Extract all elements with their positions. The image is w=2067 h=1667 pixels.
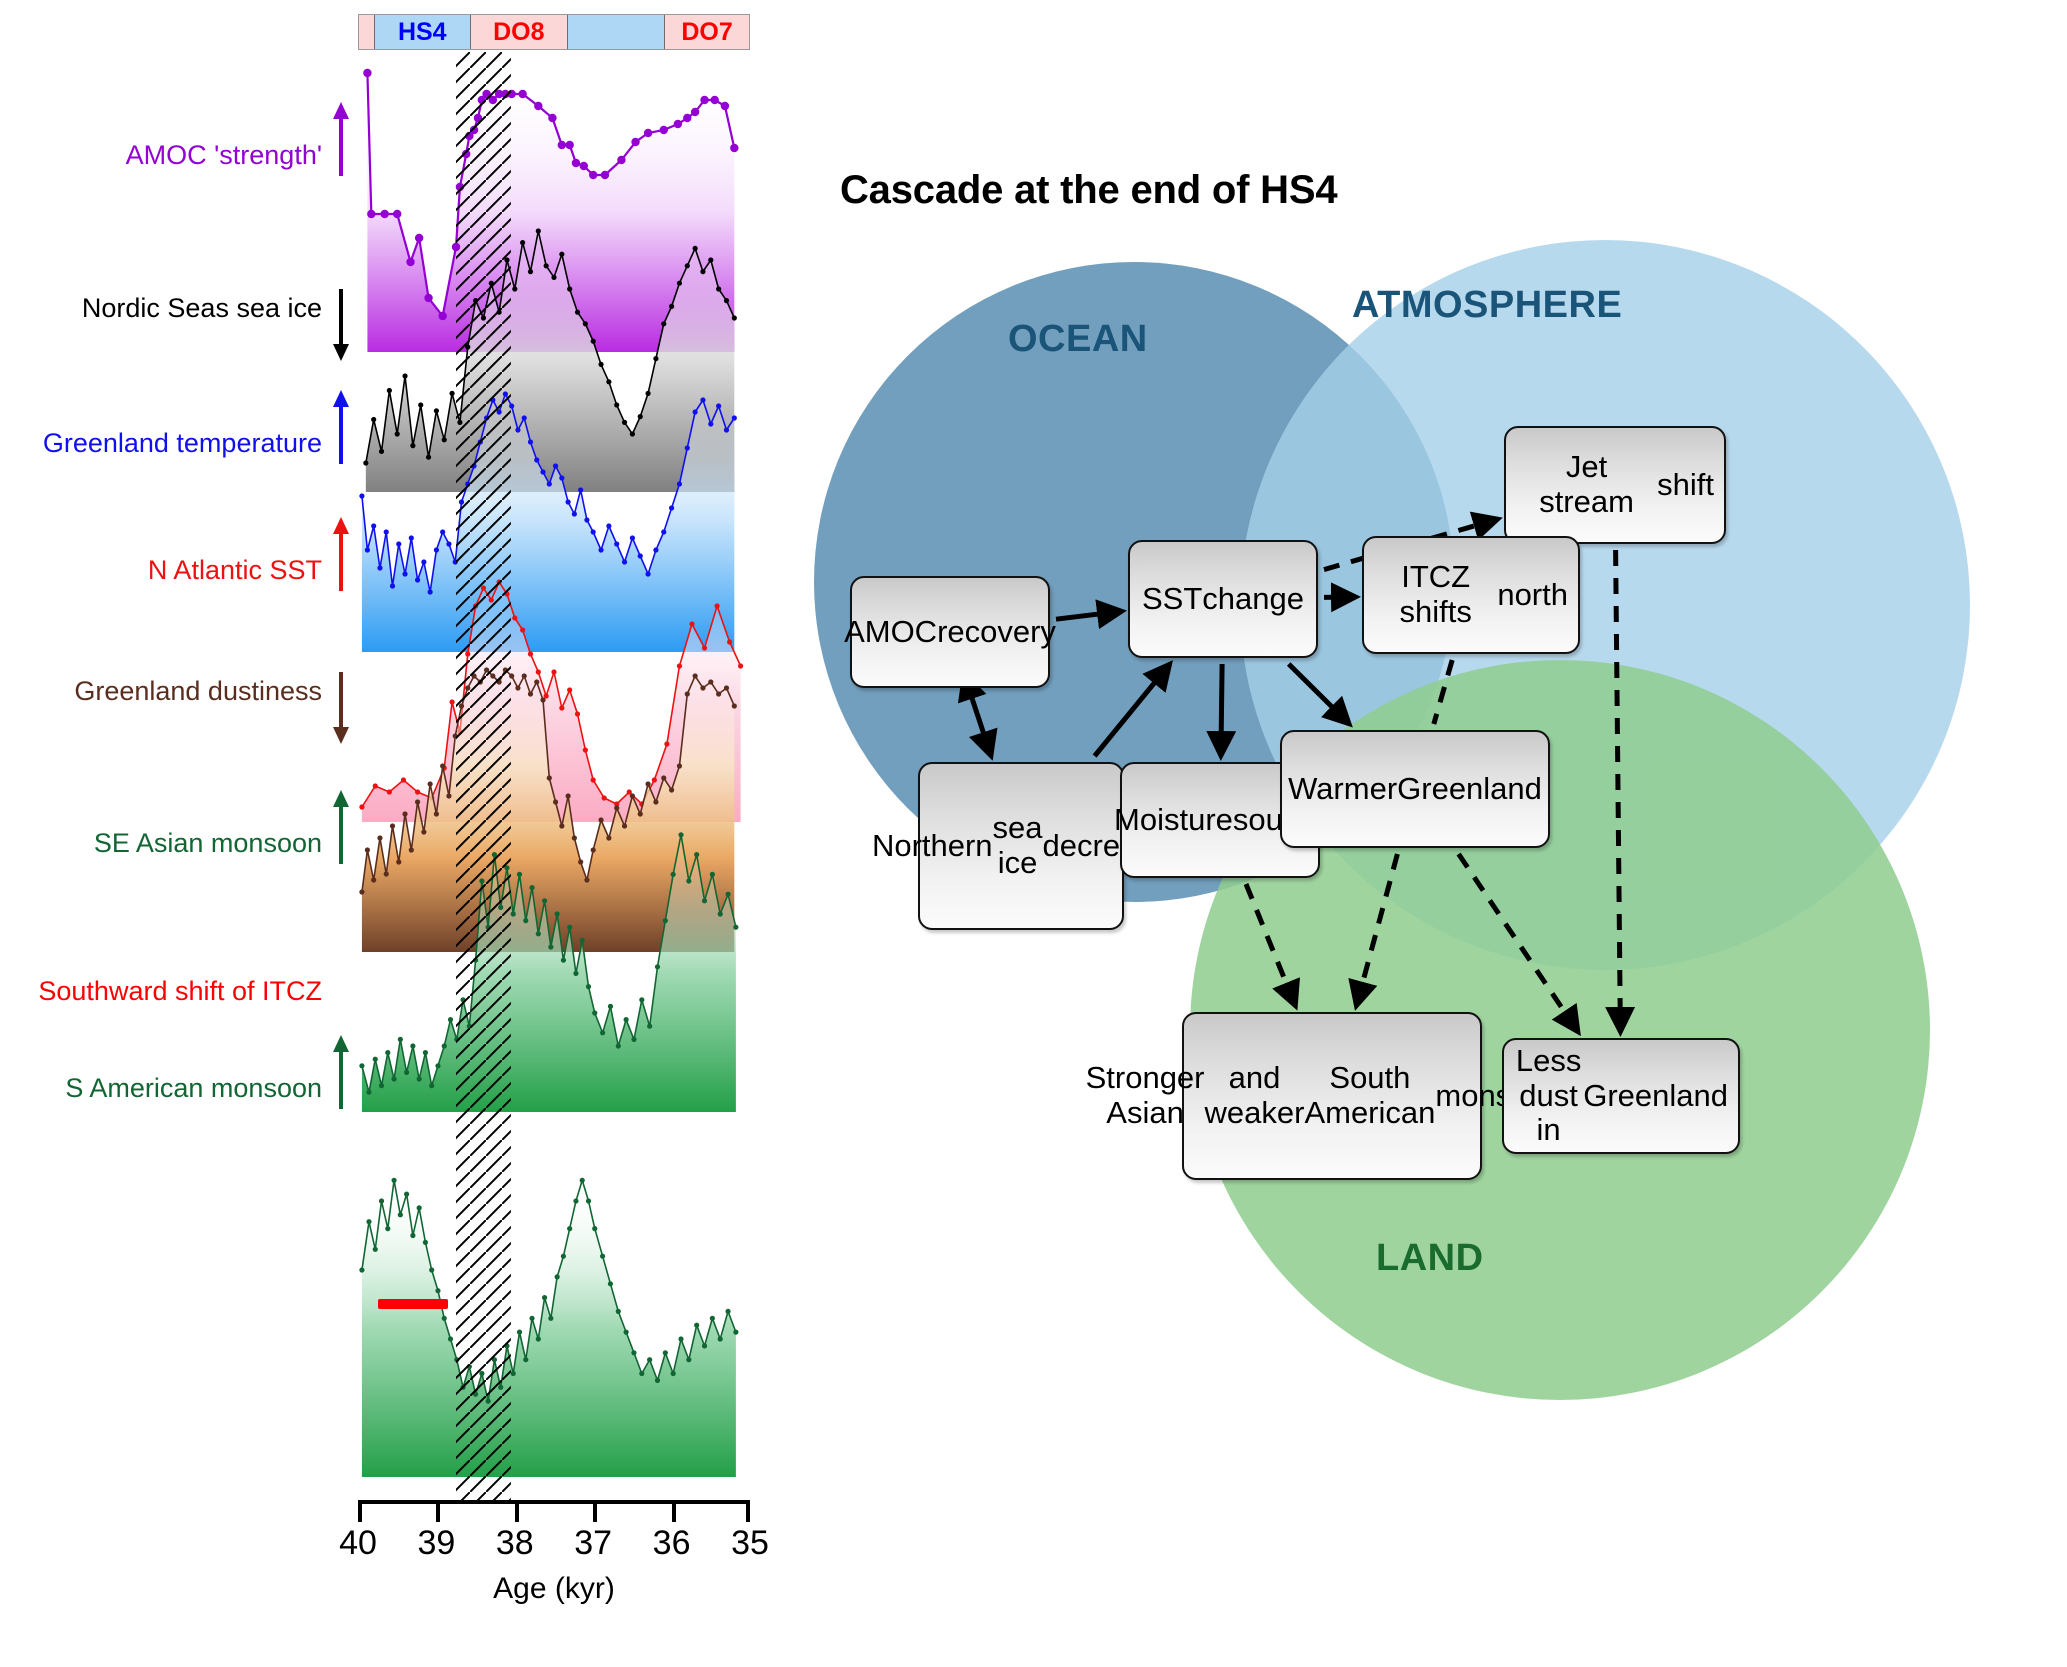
axis-tick	[672, 1500, 676, 1522]
node-line: Warmer	[1288, 772, 1397, 807]
axis-tick-label: 38	[496, 1524, 534, 1563]
axis-line	[358, 1500, 750, 1504]
series-label-1: Nordic Seas sea ice	[2, 295, 322, 322]
event-interval-bar: HS4DO8DO7	[358, 14, 750, 50]
series-label-0: AMOC 'strength'	[2, 142, 322, 169]
venn-label-land: LAND	[1376, 1237, 1484, 1280]
series-canvas	[358, 52, 750, 1500]
series-label-7: S American monsoon	[2, 1075, 322, 1102]
series-s-american-monsoon	[359, 1178, 738, 1477]
cascade-diagram: Cascade at the end of HS4 OCEAN ATMOSPHE…	[830, 0, 2067, 1667]
series-trend-arrow-up	[330, 517, 352, 591]
axis-tick	[515, 1500, 519, 1522]
node-line: north	[1497, 578, 1568, 613]
node-line: Moisture	[1114, 803, 1233, 838]
series-label-2: Greenland temperature	[2, 430, 322, 457]
node-sst-change[interactable]: SSTchange	[1128, 540, 1318, 658]
series-label-6: Southward shift of ITCZ	[2, 978, 322, 1005]
axis-tick-label: 35	[731, 1524, 769, 1563]
node-line: change	[1202, 582, 1304, 617]
node-line: Jet stream	[1516, 450, 1657, 519]
node-line: Stronger Asian	[1086, 1061, 1205, 1130]
node-less-dust-in-greenland[interactable]: Less dust inGreenland	[1502, 1038, 1740, 1154]
node-monsoons[interactable]: Stronger Asianand weakerSouth Americanmo…	[1182, 1012, 1482, 1180]
axis-tick-label: 40	[339, 1524, 377, 1563]
axis-tick-label: 39	[417, 1524, 455, 1563]
node-line: shift	[1657, 468, 1714, 503]
node-line: and weaker	[1205, 1061, 1305, 1130]
series-trend-arrow-up	[330, 102, 352, 176]
series-trend-arrow-up	[330, 790, 352, 864]
node-line: AMOC	[844, 615, 937, 650]
node-amoc-recovery[interactable]: AMOCrecovery	[850, 576, 1050, 688]
series-trend-arrow-up	[330, 1035, 352, 1109]
node-line: Greenland	[1397, 772, 1542, 807]
node-warmer-greenland[interactable]: WarmerGreenland	[1280, 730, 1550, 848]
axis-tick	[593, 1500, 597, 1522]
node-line: sea ice	[993, 811, 1043, 880]
axis-tick-label: 36	[653, 1524, 691, 1563]
series-trend-arrow-up	[330, 390, 352, 464]
node-line: South American	[1304, 1061, 1435, 1130]
axis-tick	[746, 1500, 750, 1522]
event-segment-blank	[359, 15, 375, 49]
axis-tick-label: 37	[574, 1524, 612, 1563]
series-trend-arrow-down	[330, 670, 352, 744]
event-segment-hs4: HS4	[375, 15, 471, 49]
event-segment-blank	[568, 15, 665, 49]
event-segment-do8: DO8	[471, 15, 569, 49]
series-label-3: N Atlantic SST	[2, 557, 322, 584]
cascade-title: Cascade at the end of HS4	[840, 168, 1337, 213]
venn-label-atmosphere: ATMOSPHERE	[1352, 284, 1622, 327]
x-axis-title: Age (kyr)	[493, 1572, 615, 1606]
hatched-transition-band	[456, 52, 511, 1500]
axis-tick	[358, 1500, 362, 1522]
x-axis	[358, 1500, 750, 1522]
series-trend-arrow-down	[330, 287, 352, 361]
node-line: Greenland	[1583, 1079, 1728, 1114]
node-line: SST	[1142, 582, 1202, 617]
node-line: Less dust in	[1514, 1044, 1583, 1148]
venn-label-ocean: OCEAN	[1008, 318, 1148, 361]
node-itcz-shifts-north[interactable]: ITCZ shiftsnorth	[1362, 536, 1580, 654]
axis-tick	[436, 1500, 440, 1522]
itcz-southward-shift-marker	[378, 1299, 448, 1309]
node-line: ITCZ shifts	[1374, 560, 1497, 629]
node-jet-stream-shift[interactable]: Jet streamshift	[1504, 426, 1726, 544]
event-segment-do7: DO7	[665, 15, 749, 49]
node-line: Northern	[872, 829, 993, 864]
series-label-5: SE Asian monsoon	[2, 830, 322, 857]
stacked-series-plot	[358, 52, 750, 1500]
series-label-4: Greenland dustiness	[2, 678, 322, 705]
node-line: recovery	[937, 615, 1056, 650]
node-northern-sea-ice-decrease[interactable]: Northernsea icedecrease	[918, 762, 1124, 930]
